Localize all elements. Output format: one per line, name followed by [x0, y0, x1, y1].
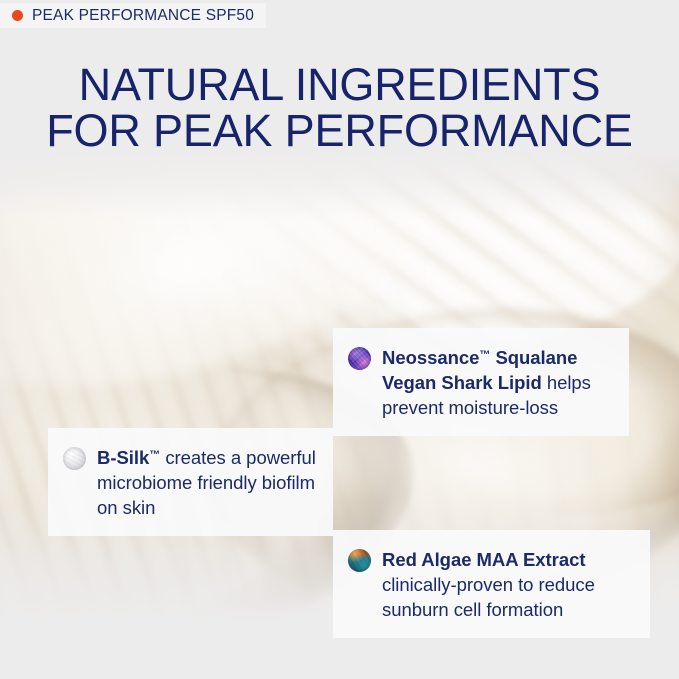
headline-line-2: FOR PEAK PERFORMANCE: [0, 108, 679, 154]
headline-line-1: NATURAL INGREDIENTS: [0, 62, 679, 108]
ingredient-text-neossance: Neossance™ Squalane Vegan Shark Lipid he…: [382, 343, 613, 420]
page-title: NATURAL INGREDIENTS FOR PEAK PERFORMANCE: [0, 62, 679, 154]
ingredient-card-bsilk: B-Silk™ creates a powerful microbiome fr…: [48, 428, 333, 536]
ingredient-card-neossance: Neossance™ Squalane Vegan Shark Lipid he…: [333, 328, 629, 436]
purple-bead-icon: [348, 347, 371, 370]
eyebrow-badge: PEAK PERFORMANCE SPF50: [0, 3, 266, 28]
bullet-dot-icon: [12, 10, 23, 21]
trademark-icon: ™: [149, 449, 160, 461]
eyebrow-label: PEAK PERFORMANCE SPF50: [32, 7, 254, 25]
ingredient-text-bsilk: B-Silk™ creates a powerful microbiome fr…: [97, 443, 317, 520]
silver-bead-icon: [63, 447, 86, 470]
ingredient-name-neossance: Neossance: [382, 347, 479, 368]
promo-banner: PEAK PERFORMANCE SPF50 NATURAL INGREDIEN…: [0, 0, 679, 679]
algae-bead-icon: [348, 549, 371, 572]
ingredient-name-red-algae: Red Algae MAA Extract: [382, 549, 585, 570]
trademark-icon: ™: [479, 349, 490, 361]
cream-fade-top: [0, 150, 679, 220]
ingredient-text-red-algae: Red Algae MAA Extract clinically-proven …: [382, 545, 634, 622]
cream-fade-left: [0, 150, 20, 620]
ingredient-card-red-algae: Red Algae MAA Extract clinically-proven …: [333, 530, 650, 638]
ingredient-name-bsilk: B-Silk: [97, 447, 149, 468]
ingredient-desc-red-algae: clinically-proven to reduce sunburn cell…: [382, 574, 595, 620]
